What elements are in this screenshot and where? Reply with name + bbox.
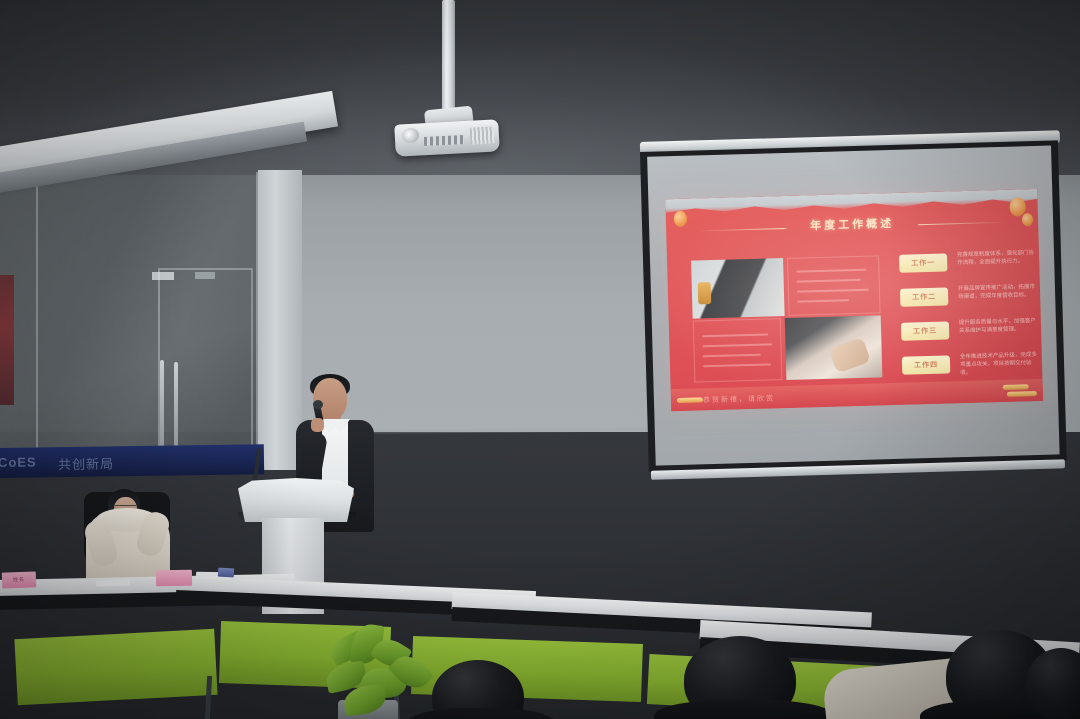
banner-text-left: CoES xyxy=(0,454,37,470)
door-handle[interactable] xyxy=(174,362,178,458)
wall-banner: CoES 共创新局 xyxy=(0,444,264,478)
conference-room-photo: CoES 共创新局 年度工作概述 xyxy=(0,0,1080,719)
podium-top xyxy=(238,478,354,522)
paper-sheet xyxy=(96,579,130,586)
glass-door[interactable] xyxy=(158,268,253,468)
slide-title: 年度工作概述 xyxy=(666,211,1038,237)
glass-reflection xyxy=(0,175,300,465)
slide-text-block-2 xyxy=(693,318,783,382)
banner-text-right: 共创新局 xyxy=(58,453,114,473)
audience-shoulders xyxy=(654,700,834,719)
glass-mullion xyxy=(36,178,38,462)
slide-item-label-3: 工作三 xyxy=(901,321,949,340)
slide-item-desc-3: 提升服务质量与水平，加强客户关系维护与满意度管理。 xyxy=(959,317,1037,335)
booklet xyxy=(218,568,234,578)
slide-item-desc-1: 完善规章制度体系，强化部门协作流程，全面提升执行力。 xyxy=(957,249,1035,267)
slide-photo-hands xyxy=(785,315,883,380)
name-card xyxy=(156,570,192,587)
slide-photo-desk xyxy=(691,258,785,319)
projector-pole xyxy=(442,0,455,118)
projected-slide: 年度工作概述 工作一 完善规章制度体系，强化部门协作流程，全面提升执行力。 工作… xyxy=(665,189,1043,411)
microphone-head-icon xyxy=(313,400,323,409)
name-card: 姓名 xyxy=(2,571,37,588)
gold-ingot-icon xyxy=(1007,391,1037,397)
projector-vent xyxy=(470,126,495,144)
door-sign xyxy=(195,272,215,279)
slide-item-desc-4: 全年推进技术产品升级，完成多项重点攻关，项目按期交付验收。 xyxy=(960,351,1039,377)
speaker-hand xyxy=(311,418,324,432)
slide-item-label-4: 工作四 xyxy=(902,355,950,374)
slide-item-label-2: 工作二 xyxy=(900,287,948,306)
gold-ingot-icon xyxy=(1003,384,1029,390)
slide-text-block-1 xyxy=(787,255,881,316)
gold-ingot-icon xyxy=(677,397,703,403)
slide-item-label-1: 工作一 xyxy=(899,253,947,272)
wall-pillar xyxy=(258,170,302,470)
slide-item-desc-2: 开展品牌宣传推广活动，拓展市场渠道，完成年度营收目标。 xyxy=(958,283,1036,301)
chair[interactable] xyxy=(14,629,217,705)
red-poster-sliver xyxy=(0,275,14,405)
door-push-plate xyxy=(152,272,174,280)
projection-screen: 年度工作概述 工作一 完善规章制度体系，强化部门协作流程，全面提升执行力。 工作… xyxy=(640,140,1067,472)
slide-footer-text: 恭贺新禧，请欣赏 xyxy=(703,393,775,405)
